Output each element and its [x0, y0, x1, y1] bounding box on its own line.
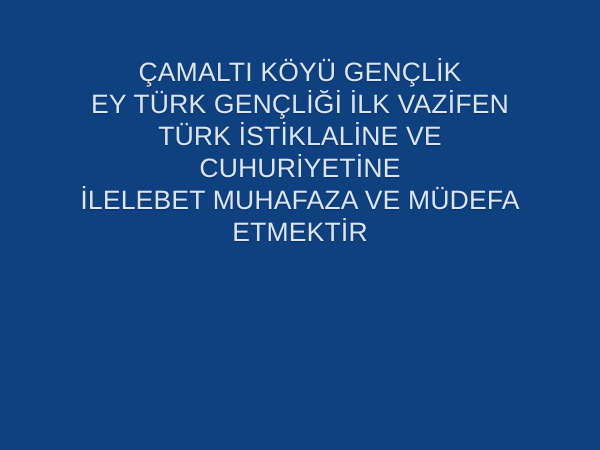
slide-text-line-2: EY TÜRK GENÇLİĞİ İLK VAZİFEN [0, 88, 600, 120]
slide-text-block: ÇAMALTI KÖYÜ GENÇLİK EY TÜRK GENÇLİĞİ İL… [0, 56, 600, 248]
slide-canvas: ÇAMALTI KÖYÜ GENÇLİK EY TÜRK GENÇLİĞİ İL… [0, 0, 600, 450]
slide-text-line-1: ÇAMALTI KÖYÜ GENÇLİK [0, 56, 600, 88]
slide-text-line-5: İLELEBET MUHAFAZA VE MÜDEFA [0, 184, 600, 216]
slide-text-line-3: TÜRK İSTİKLALİNE VE [0, 120, 600, 152]
slide-text-line-4: CUHURİYETİNE [0, 152, 600, 184]
slide-text-line-6: ETMEKTİR [0, 216, 600, 248]
